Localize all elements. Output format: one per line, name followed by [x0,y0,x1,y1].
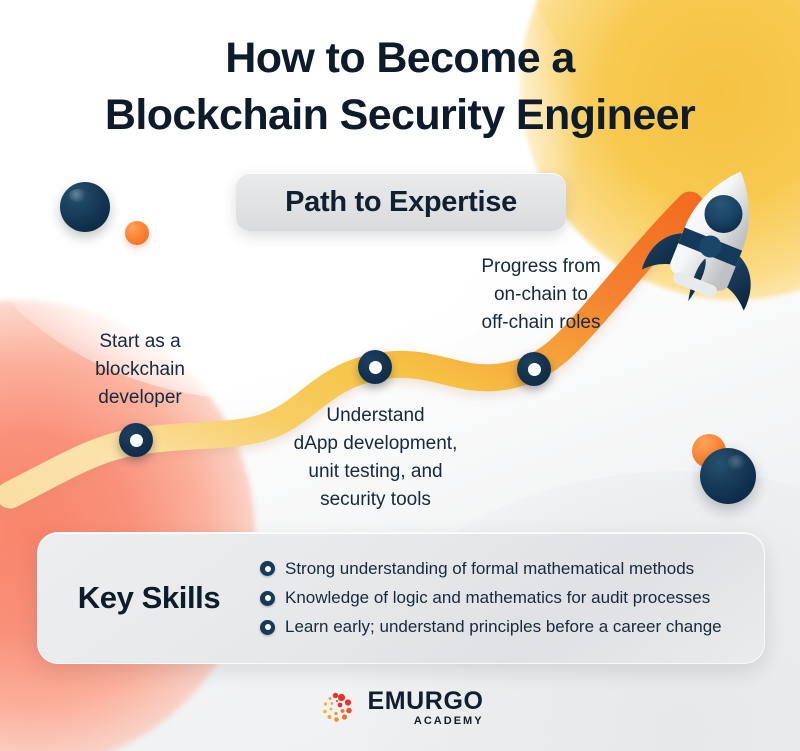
step-label-1: Start as a blockchain developer [60,328,220,412]
bullet-donut-icon [260,620,275,635]
milestone-node-1[interactable] [119,423,153,457]
infographic-canvas: How to Become a Blockchain Security Engi… [0,0,800,751]
step-label-3: Progress from on-chain to off-chain role… [452,253,630,337]
step-label-2: Understand dApp development, unit testin… [283,402,468,514]
logo-dot-burst [324,693,353,722]
skill-item: Knowledge of logic and mathematics for a… [260,587,746,609]
step-label-3-text: Progress from on-chain to off-chain role… [481,256,600,333]
rocket-icon [638,160,788,320]
key-skills-panel: Key Skills Strong understanding of forma… [37,532,765,664]
decorative-navy-sphere-right [700,448,756,504]
key-skills-title: Key Skills [38,580,260,616]
step-label-2-text: Understand dApp development, unit testin… [294,405,458,510]
skill-text: Strong understanding of formal mathemati… [285,558,694,580]
emurgo-sub-brand-text: ACADEMY [367,716,483,727]
decorative-orange-sphere-left [125,221,149,245]
decorative-navy-sphere-left [60,182,110,232]
step-label-1-text: Start as a blockchain developer [95,331,185,408]
footer-brand: EMURGO ACADEMY [0,688,800,728]
skill-text: Learn early; understand principles befor… [285,616,722,638]
emurgo-logo-mark-icon [316,688,356,728]
emurgo-wordmark: EMURGO ACADEMY [367,689,483,727]
bullet-donut-icon [260,561,275,576]
milestone-node-2[interactable] [358,350,392,384]
skill-item: Strong understanding of formal mathemati… [260,558,746,580]
skill-item: Learn early; understand principles befor… [260,616,746,638]
emurgo-brand-text: EMURGO [367,689,483,714]
bullet-donut-icon [260,591,275,606]
skill-text: Knowledge of logic and mathematics for a… [285,587,710,609]
milestone-node-3[interactable] [517,352,551,386]
key-skills-list: Strong understanding of formal mathemati… [260,551,764,645]
